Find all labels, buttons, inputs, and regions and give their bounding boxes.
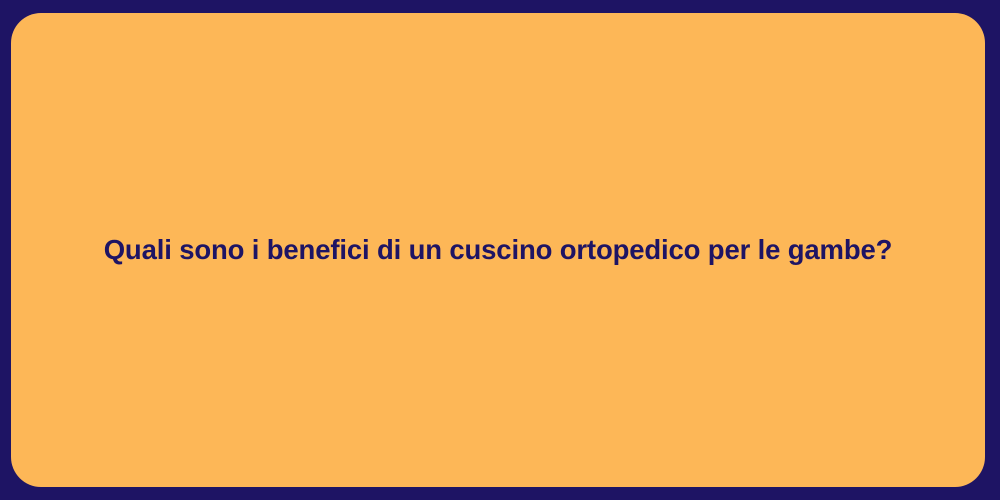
question-card-panel: Quali sono i benefici di un cuscino orto… xyxy=(11,13,985,487)
question-card-frame: Quali sono i benefici di un cuscino orto… xyxy=(0,0,1000,500)
question-heading: Quali sono i benefici di un cuscino orto… xyxy=(104,233,893,267)
